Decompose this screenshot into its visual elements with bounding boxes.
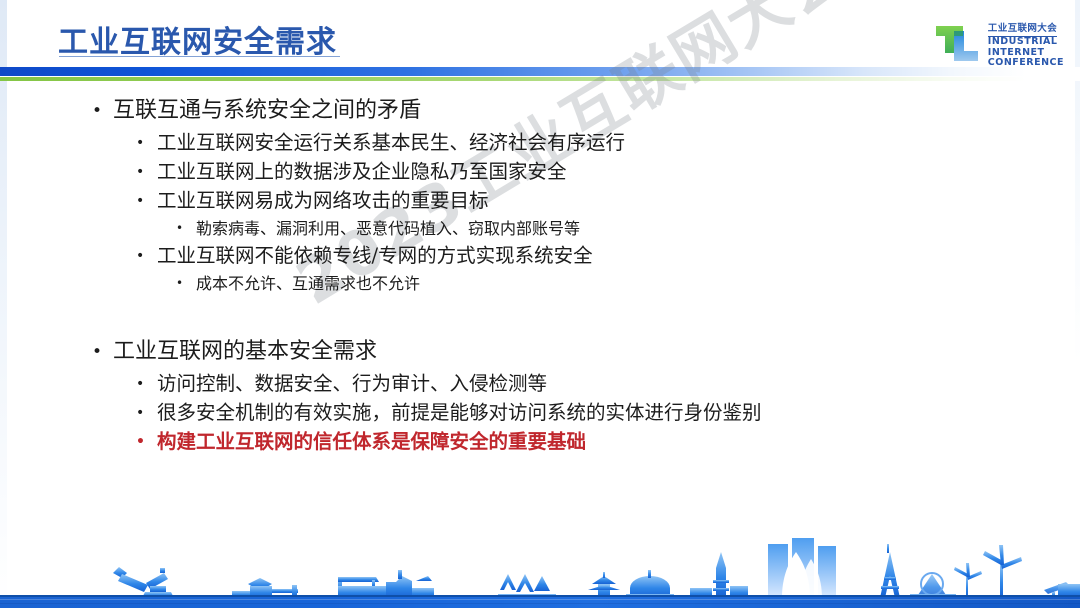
bullet-glyph: • xyxy=(92,337,113,361)
skyline-silhouette xyxy=(113,552,748,598)
logo-cn-name: 工业互联网大会 xyxy=(988,24,1057,37)
page-title: 工业互联网安全需求 xyxy=(58,17,337,61)
header-divider xyxy=(0,67,1080,81)
list-item: • 工业互联网安全运行关系基本民生、经济社会有序运行 xyxy=(0,129,1080,157)
bullet-glyph: • xyxy=(92,96,113,120)
logo-en-line3: CONFERENCE xyxy=(988,58,1064,69)
section-2-heading-text: 工业互联网的基本安全需求 xyxy=(113,337,377,367)
list-item: • 访问控制、数据安全、行为审计、入侵检测等 xyxy=(0,370,1080,398)
list-item-text: 很多安全机制的有效实施，前提是能够对访问系统的实体进行身份鉴别 xyxy=(157,399,762,427)
list-item: • 工业互联网不能依赖专线/专网的方式实现系统安全 xyxy=(0,242,1080,270)
list-item-text: 构建工业互联网的信任体系是保障安全的重要基础 xyxy=(157,428,586,456)
content-section-1: • 互联互通与系统安全之间的矛盾 • 工业互联网安全运行关系基本民生、经济社会有… xyxy=(0,96,1080,296)
presentation-slide: 工业互联网安全需求 xyxy=(0,0,1080,608)
list-item: • 很多安全机制的有效实施，前提是能够对访问系统的实体进行身份鉴别 xyxy=(0,399,1080,427)
section-spacer xyxy=(0,297,1080,337)
bullet-glyph: • xyxy=(136,187,157,208)
conference-logo-text: 工业互联网大会 INDUSTRIAL INTERNET CONFERENCE xyxy=(988,17,1064,69)
footer-band xyxy=(0,597,1080,608)
title-underline xyxy=(59,56,340,57)
section-2-heading: • 工业互联网的基本安全需求 xyxy=(0,337,1080,367)
list-item: • 工业互联网上的数据涉及企业隐私乃至国家安全 xyxy=(0,158,1080,186)
slide-body: • 互联互通与系统安全之间的矛盾 • 工业互联网安全运行关系基本民生、经济社会有… xyxy=(0,96,1080,457)
bullet-glyph: • xyxy=(136,158,157,179)
list-item-text: 工业互联网上的数据涉及企业隐私乃至国家安全 xyxy=(157,158,567,186)
skyline-ground-line xyxy=(0,595,1080,597)
bullet-glyph: • xyxy=(136,428,157,449)
bullet-glyph: • xyxy=(136,399,157,420)
twin-towers xyxy=(768,538,836,598)
divider-green-bar xyxy=(0,77,1080,81)
list-item-text: 工业互联网安全运行关系基本民生、经济社会有序运行 xyxy=(157,129,625,157)
skyline-graphic xyxy=(0,528,1080,608)
list-item: • 成本不允许、互通需求也不允许 xyxy=(0,271,1080,296)
content-section-2: • 工业互联网的基本安全需求 • 访问控制、数据安全、行为审计、入侵检测等 • … xyxy=(0,337,1080,456)
conference-logo-icon xyxy=(933,20,981,66)
list-item-text: 成本不允许、互通需求也不允许 xyxy=(196,271,420,296)
divider-blue-bar xyxy=(0,67,1080,76)
list-item-text: 访问控制、数据安全、行为审计、入侵检测等 xyxy=(157,370,547,398)
bullet-glyph: • xyxy=(136,370,157,391)
list-item-text: 勒索病毒、漏洞利用、恶意代码植入、窃取内部账号等 xyxy=(196,216,580,241)
list-item: • 工业互联网易成为网络攻击的重要目标 xyxy=(0,187,1080,215)
footer-skyline xyxy=(0,528,1080,608)
list-item-highlighted: • 构建工业互联网的信任体系是保障安全的重要基础 xyxy=(0,428,1080,456)
section-1-heading-text: 互联互通与系统安全之间的矛盾 xyxy=(113,96,421,126)
bullet-glyph: • xyxy=(176,216,196,234)
section-1-heading: • 互联互通与系统安全之间的矛盾 xyxy=(0,96,1080,126)
conference-logo: 工业互联网大会 INDUSTRIAL INTERNET CONFERENCE xyxy=(933,17,1064,69)
bullet-glyph: • xyxy=(136,242,157,263)
list-item-text: 工业互联网不能依赖专线/专网的方式实现系统安全 xyxy=(157,242,593,270)
bullet-glyph: • xyxy=(176,271,196,289)
list-item: • 勒索病毒、漏洞利用、恶意代码植入、窃取内部账号等 xyxy=(0,216,1080,241)
bullet-glyph: • xyxy=(136,129,157,150)
list-item-text: 工业互联网易成为网络攻击的重要目标 xyxy=(157,187,489,215)
